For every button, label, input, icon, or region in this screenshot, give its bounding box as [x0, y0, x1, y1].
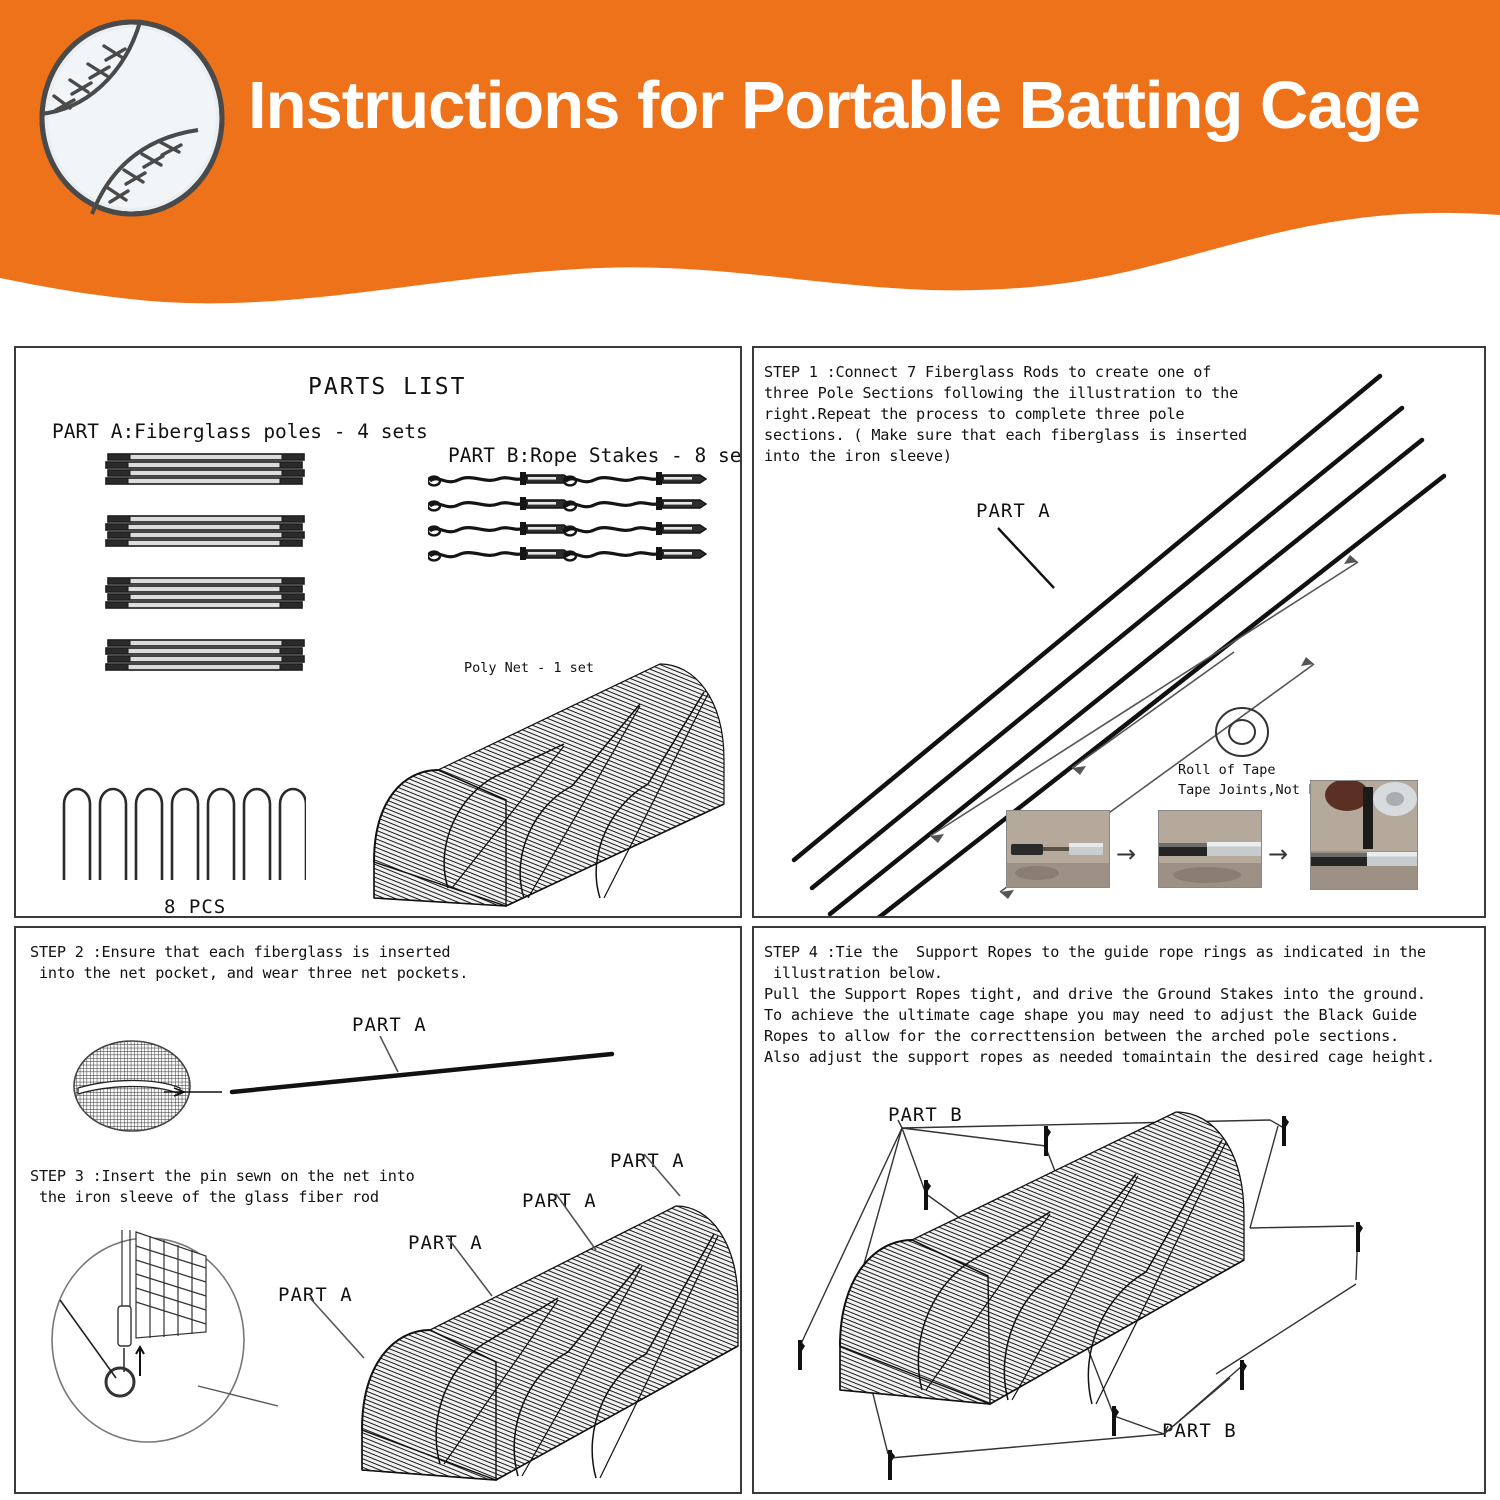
tape-roll-icon	[1212, 702, 1272, 762]
step3-tunnel-illustration	[252, 1146, 742, 1494]
page-header: Instructions for Portable Batting Cage	[0, 0, 1500, 330]
page-title: Instructions for Portable Batting Cage	[248, 72, 1498, 139]
net-pocket-detail	[56, 1024, 616, 1136]
part-a-heading: PART A:Fiberglass poles - 4 sets	[52, 420, 428, 443]
step-2-text: STEP 2 :Ensure that each fiberglass is i…	[30, 942, 468, 984]
tape-label-line-1: Roll of Tape	[1178, 762, 1276, 778]
step-2-and-3-panel: STEP 2 :Ensure that each fiberglass is i…	[14, 926, 742, 1494]
step-1-panel: STEP 1 :Connect 7 Fiberglass Rods to cre…	[752, 346, 1486, 918]
step4-cage-with-ropes-illustration	[770, 1098, 1470, 1490]
stakes-count-label: 8 PCS	[164, 896, 226, 918]
rod-sleeve-taped-photo	[1310, 780, 1418, 890]
step-4-panel: STEP 4 :Tie the Support Ropes to the gui…	[752, 926, 1486, 1494]
rod-sleeve-joined-photo	[1158, 810, 1262, 888]
panel-grid: PARTS LIST PART A:Fiberglass poles - 4 s…	[0, 340, 1500, 1500]
rope-stakes-group	[428, 472, 708, 582]
rod-sleeve-apart-photo	[1006, 810, 1110, 888]
poly-net-tunnel-illustration	[364, 648, 740, 918]
ground-staples-group	[56, 776, 306, 888]
fiberglass-pole-bundles	[102, 452, 322, 702]
parts-list-title: PARTS LIST	[308, 374, 466, 400]
pin-and-sleeve-detail	[40, 1220, 280, 1470]
parts-list-panel: PARTS LIST PART A:Fiberglass poles - 4 s…	[14, 346, 742, 918]
step-4-text: STEP 4 :Tie the Support Ropes to the gui…	[764, 942, 1435, 1068]
baseball-icon	[32, 18, 232, 218]
arrow-right-icon-2: →	[1268, 840, 1288, 868]
part-b-heading: PART B:Rope Stakes - 8 sets	[448, 444, 742, 467]
instruction-sheet: Instructions for Portable Batting Cage P…	[0, 0, 1500, 1500]
arrow-right-icon-1: →	[1116, 840, 1136, 868]
